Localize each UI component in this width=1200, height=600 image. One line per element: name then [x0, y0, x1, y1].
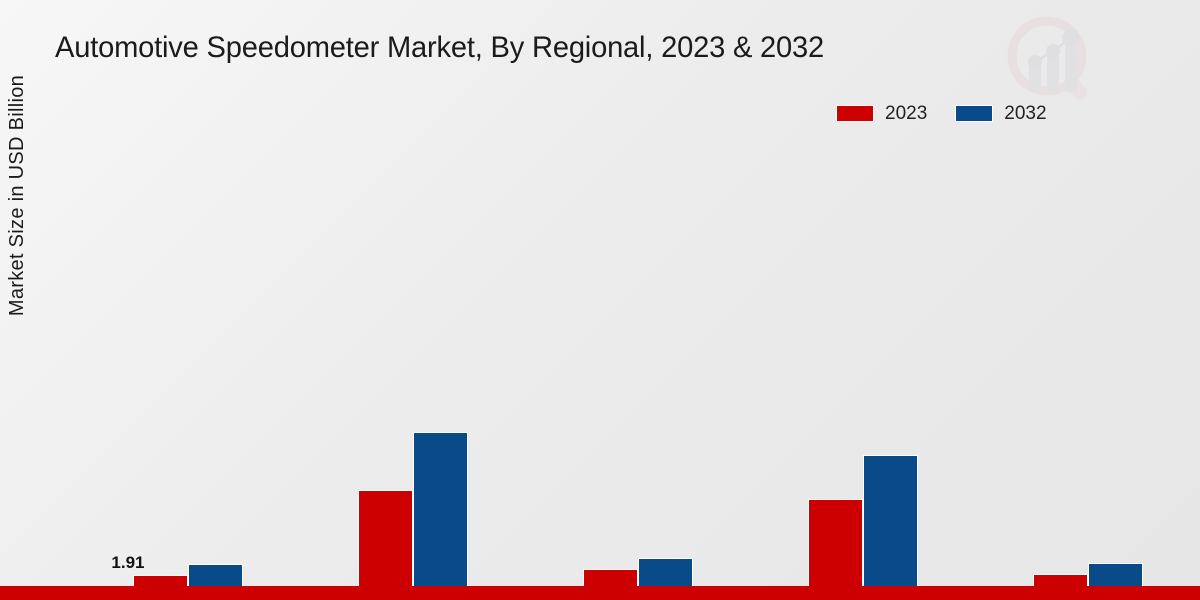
- legend-label-2032: 2032: [1004, 104, 1046, 123]
- bar-group: EUROPE: [301, 140, 526, 590]
- bar-group: NORTH AMERICA: [76, 140, 301, 590]
- bottom-accent-strip: [0, 586, 1200, 600]
- watermark-logo-icon: [995, 12, 1115, 104]
- chart-legend: 2023 2032: [836, 104, 1047, 123]
- plot-area: NORTH AMERICAEUROPESOUTH AMERICAASIA PAC…: [38, 140, 1196, 450]
- y-axis-title-text: Market Size in USD Billion: [7, 74, 30, 315]
- chart-canvas: Automotive Speedometer Market, By Region…: [0, 0, 1200, 600]
- bar-groups: NORTH AMERICAEUROPESOUTH AMERICAASIA PAC…: [76, 140, 1200, 590]
- y-axis-title: Market Size in USD Billion: [0, 0, 36, 600]
- legend-item-2032[interactable]: 2032: [955, 104, 1046, 123]
- bar-pair: [526, 140, 751, 590]
- legend-label-2023: 2023: [885, 104, 927, 123]
- legend-swatch-2023: [836, 105, 874, 122]
- bar-pair: [975, 140, 1200, 590]
- bar-pair: [76, 140, 301, 590]
- bar-pair: [750, 140, 975, 590]
- chart-title: Automotive Speedometer Market, By Region…: [55, 31, 824, 65]
- bar-2032[interactable]: [863, 455, 918, 590]
- bar-group: MIDDLE EAST AND AFRICA: [975, 140, 1200, 590]
- bar-group: SOUTH AMERICA: [526, 140, 751, 590]
- bar-2023[interactable]: [808, 499, 863, 590]
- bar-2032[interactable]: [413, 432, 468, 590]
- bar-value-label: 1.91: [111, 553, 144, 573]
- legend-swatch-2032: [955, 105, 993, 122]
- legend-item-2023[interactable]: 2023: [836, 104, 927, 123]
- bar-group: ASIA PACIFIC: [750, 140, 975, 590]
- bar-2023[interactable]: [358, 490, 413, 590]
- bar-pair: [301, 140, 526, 590]
